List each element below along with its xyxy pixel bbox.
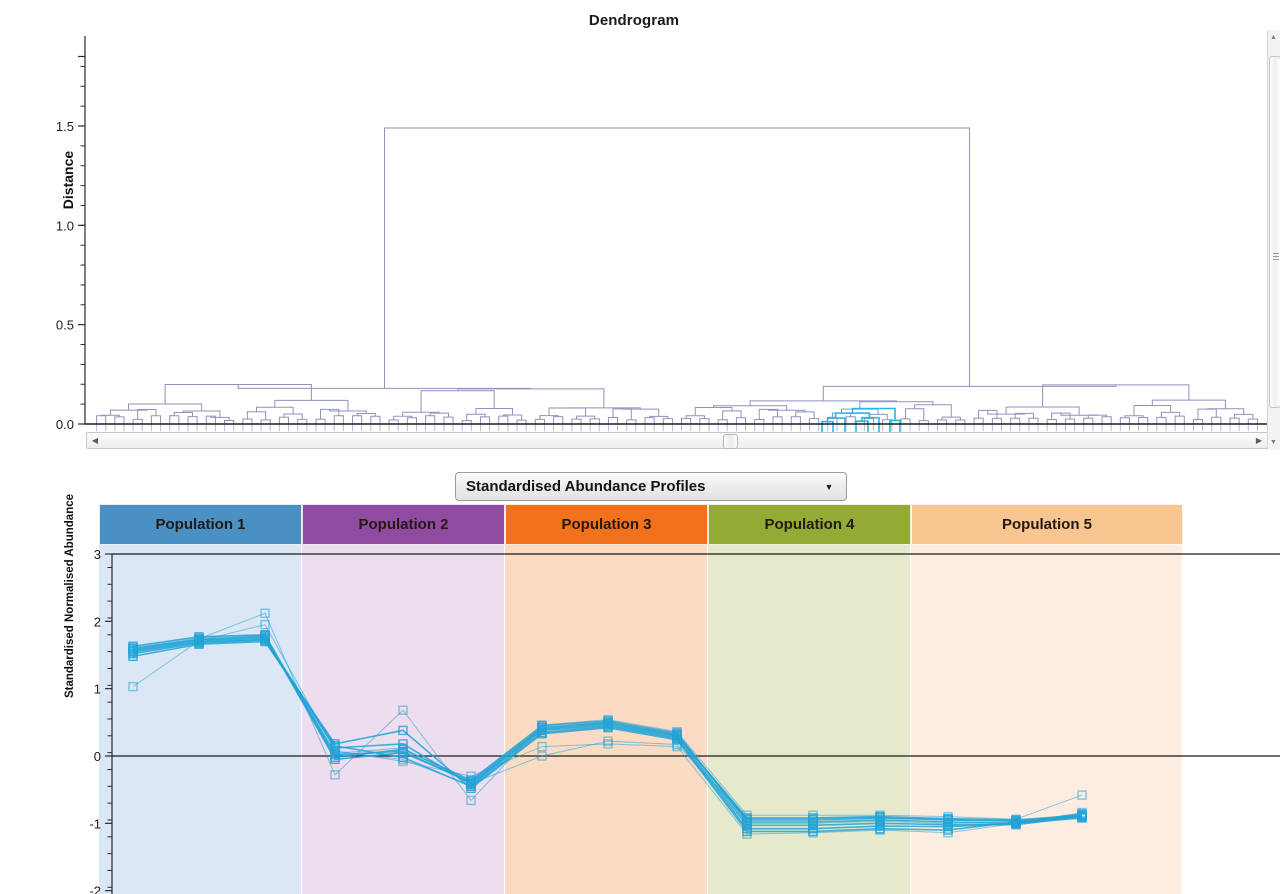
profile-y-tick-label: 3 (94, 547, 101, 562)
profile-type-dropdown[interactable]: Standardised Abundance Profiles ▼ (455, 472, 847, 501)
population-header-2[interactable]: Population 2 (302, 504, 505, 545)
scroll-up-arrow-icon[interactable]: ▲ (1270, 34, 1277, 41)
profile-type-dropdown-value: Standardised Abundance Profiles (456, 478, 812, 495)
svg-text:1.5: 1.5 (56, 119, 74, 134)
profile-y-tick-label: -2 (89, 884, 101, 894)
profile-y-tick-label: 1 (94, 682, 101, 697)
population-header-label: Population 3 (562, 516, 652, 533)
population-header-label: Population 5 (1002, 516, 1092, 533)
profile-y-axis-label: Standardised Normalised Abundance (64, 466, 76, 726)
profile-y-tick-label: 0 (94, 749, 101, 764)
abundance-profile-plot[interactable]: 3210-1-2 (0, 545, 1280, 894)
population-header-label: Population 4 (765, 516, 855, 533)
population-header-label: Population 2 (359, 516, 449, 533)
svg-text:0.5: 0.5 (56, 318, 74, 333)
dendrogram-vertical-scrollbar[interactable]: ▲ ▼ (1267, 30, 1280, 450)
population-header-bar: Population 1Population 2Population 3Popu… (99, 504, 1183, 545)
svg-text:1.0: 1.0 (56, 218, 74, 233)
population-header-4[interactable]: Population 4 (708, 504, 911, 545)
scroll-down-arrow-icon[interactable]: ▼ (1270, 439, 1277, 446)
dendrogram-horizontal-scrollbar[interactable]: ◀ ▶ (86, 432, 1268, 449)
population-header-3[interactable]: Population 3 (505, 504, 708, 545)
scroll-left-arrow-icon[interactable]: ◀ (88, 433, 102, 448)
scrollbar-grip-icon (1273, 253, 1279, 262)
population-header-5[interactable]: Population 5 (911, 504, 1183, 545)
population-header-1[interactable]: Population 1 (99, 504, 302, 545)
dendrogram-plot[interactable]: 0.00.51.01.5 (0, 0, 1268, 460)
svg-text:0.0: 0.0 (56, 417, 74, 432)
abundance-profile-panel: 3210-1-2 (0, 545, 1280, 894)
profile-y-tick-label: 2 (94, 614, 101, 629)
vertical-scrollbar-thumb[interactable] (1269, 56, 1280, 408)
horizontal-scrollbar-thumb[interactable] (723, 434, 738, 449)
chevron-down-icon: ▼ (812, 482, 846, 492)
population-header-label: Population 1 (156, 516, 246, 533)
scroll-right-arrow-icon[interactable]: ▶ (1252, 433, 1266, 448)
dendrogram-panel: Dendrogram Distance 0.00.51.01.5 (0, 0, 1268, 460)
profile-y-tick-label: -1 (89, 816, 101, 831)
